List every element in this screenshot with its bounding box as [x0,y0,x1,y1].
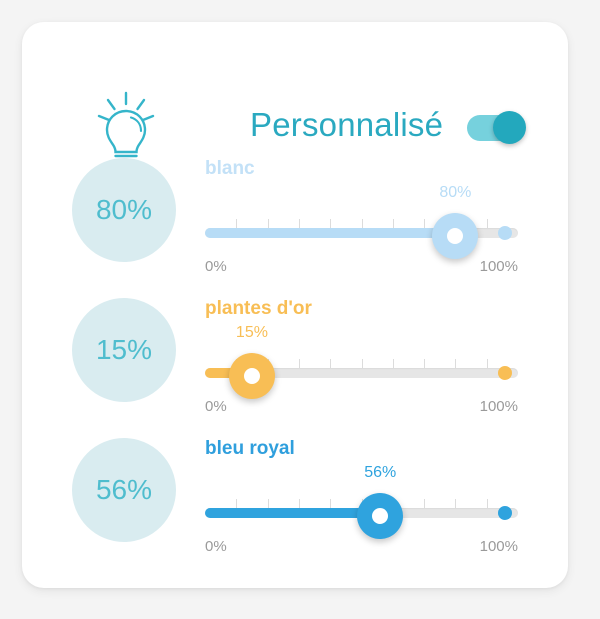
badge-value: 56% [96,474,152,506]
slider-tick [236,499,237,508]
axis-max-label: 100% [480,398,518,415]
slider-marker-dot[interactable] [498,226,512,240]
slider-fill [205,228,455,238]
slider-tick [424,359,425,368]
channel-name-label: plantes d'or [205,298,312,320]
slider-tick [393,359,394,368]
slider-tick [455,499,456,508]
value-badge: 15% [72,298,176,402]
custom-mode-toggle[interactable] [467,110,525,144]
slider-tick [424,499,425,508]
slider-marker-dot[interactable] [498,506,512,520]
slider-tick [487,219,488,228]
slider-thumb[interactable] [432,213,478,259]
slider-value-bubble: 80% [439,184,471,202]
slider-control: blanc 80% 0% 100% [205,140,535,280]
slider-value-bubble: 56% [364,464,396,482]
slider-tick [299,219,300,228]
slider-control: plantes d'or 15% 0% 100% [205,280,535,420]
slider-tick [299,359,300,368]
slider-marker-dot[interactable] [498,366,512,380]
slider-control: bleu royal 56% 0% 100% [205,420,535,560]
slider-tick [330,219,331,228]
card-header: Personnalisé [22,56,568,138]
slider-thumb[interactable] [357,493,403,539]
slider-value-bubble: 15% [236,324,268,342]
slider-tick [487,359,488,368]
channel-name-label: blanc [205,158,255,180]
channel-name-label: bleu royal [205,438,295,460]
axis-min-label: 0% [205,398,227,415]
slider-thumb[interactable] [229,353,275,399]
axis-max-label: 100% [480,258,518,275]
axis-min-label: 0% [205,258,227,275]
slider-tick [362,359,363,368]
custom-lighting-card: Personnalisé 80% blanc 80% 0% 100% [22,22,568,588]
slider-tick [487,499,488,508]
slider-row-blanc: 80% blanc 80% 0% 100% [22,140,568,280]
slider-bleu-royal[interactable] [205,502,518,524]
value-badge: 80% [72,158,176,262]
slider-tick [268,499,269,508]
slider-plantes-dor[interactable] [205,362,518,384]
value-badge: 56% [72,438,176,542]
axis-max-label: 100% [480,538,518,555]
slider-tick [268,219,269,228]
slider-tick [236,219,237,228]
slider-row-bleu-royal: 56% bleu royal 56% 0% 100% [22,420,568,560]
badge-value: 80% [96,194,152,226]
page-title: Personnalisé [250,106,443,144]
slider-tick [393,219,394,228]
slider-tick [330,499,331,508]
slider-blanc[interactable] [205,222,518,244]
slider-row-plantes-dor: 15% plantes d'or 15% 0% 100% [22,280,568,420]
slider-fill [205,508,380,518]
slider-tick [424,219,425,228]
slider-tick [299,499,300,508]
axis-min-label: 0% [205,538,227,555]
badge-value: 15% [96,334,152,366]
slider-tick [330,359,331,368]
slider-tick [362,219,363,228]
slider-tick [455,359,456,368]
